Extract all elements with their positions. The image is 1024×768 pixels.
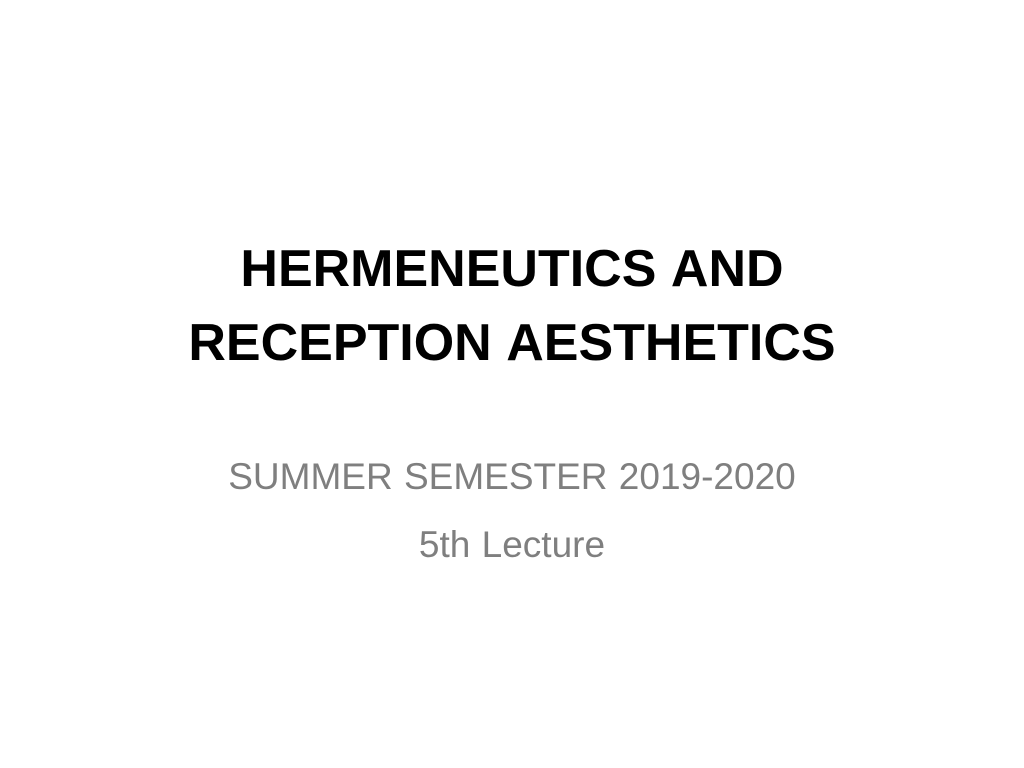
subtitle-line-semester: SUMMER SEMESTER 2019-2020: [102, 443, 922, 511]
subtitle-line-lecture: 5th Lecture: [102, 511, 922, 579]
subtitle-placeholder[interactable]: SUMMER SEMESTER 2019-2020 5th Lecture: [102, 443, 922, 579]
page-title: HERMENEUTICS AND RECEPTION AESTHETICS: [102, 232, 922, 380]
presentation-slide: HERMENEUTICS AND RECEPTION AESTHETICS SU…: [0, 0, 1024, 768]
slide-content-area: HERMENEUTICS AND RECEPTION AESTHETICS SU…: [0, 0, 1024, 768]
title-placeholder[interactable]: HERMENEUTICS AND RECEPTION AESTHETICS: [102, 232, 922, 380]
